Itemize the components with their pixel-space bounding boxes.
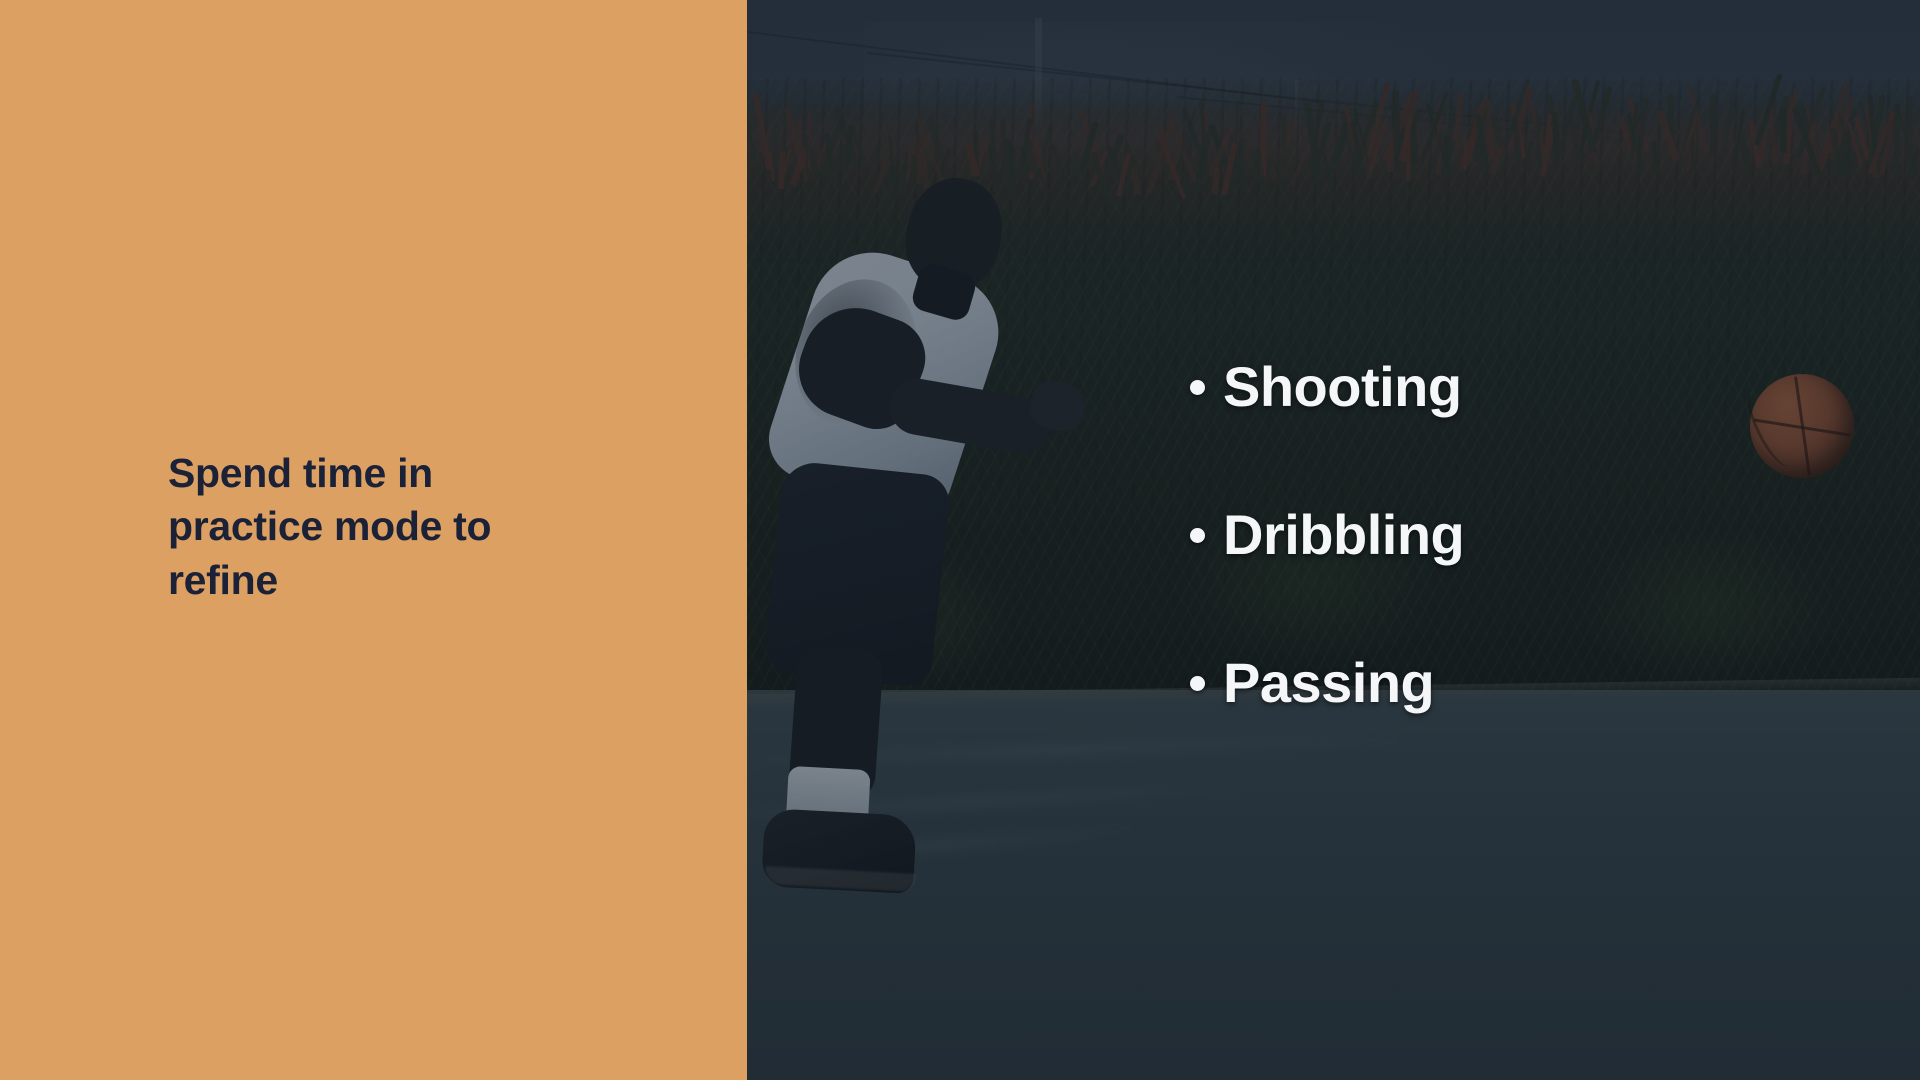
left-text-panel: Spend time in practice mode to refine xyxy=(0,0,747,1080)
bullet-label: Passing xyxy=(1223,655,1434,711)
slide-headline: Spend time in practice mode to refine xyxy=(168,447,638,607)
bullet-label: Dribbling xyxy=(1223,507,1464,563)
photo-panel: Shooting Dribbling Passing xyxy=(747,0,1920,1080)
bullet-dot-icon xyxy=(1190,676,1205,691)
list-item: Shooting xyxy=(1190,352,1464,422)
hedge-sprig xyxy=(1291,150,1307,187)
hedge-sprig xyxy=(1652,140,1660,172)
bullet-dot-icon xyxy=(1190,528,1205,543)
slide-root: Spend time in practice mode to refine xyxy=(0,0,1920,1080)
bullet-dot-icon xyxy=(1190,380,1205,395)
skills-bullet-list: Shooting Dribbling Passing xyxy=(1190,352,1464,718)
hedge-sprig xyxy=(1281,115,1287,182)
hedge-sprig xyxy=(1710,94,1716,154)
list-item: Passing xyxy=(1190,648,1464,718)
bullet-label: Shooting xyxy=(1223,359,1462,415)
hedge-sprig xyxy=(1553,112,1560,170)
basketball-player xyxy=(747,150,1099,930)
basketball-ball xyxy=(1750,374,1854,478)
hedge-sprig xyxy=(1894,104,1901,171)
hedge-sprig xyxy=(1739,132,1752,170)
hedge-sprig xyxy=(1779,107,1786,153)
list-item: Dribbling xyxy=(1190,500,1464,570)
